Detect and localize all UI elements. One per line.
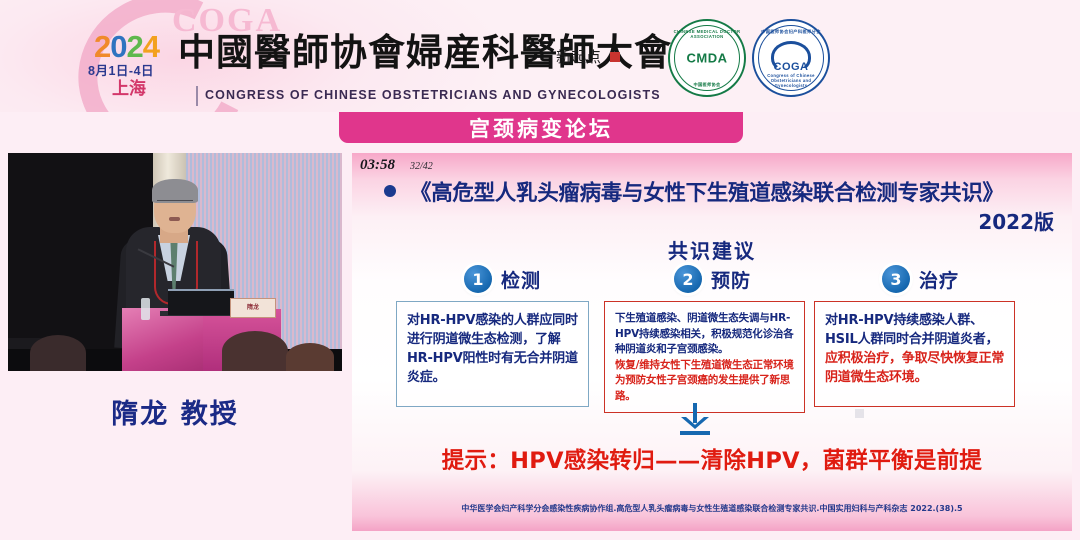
cmda-arc-top: CHINESE MEDICAL DOCTOR ASSOCIATION (670, 29, 744, 39)
laptop-screen (168, 289, 234, 315)
slide-subheading: 共识建议 (352, 235, 1072, 264)
podium-left (122, 308, 212, 371)
step-number-3: 3 (882, 265, 910, 293)
presentation-slide[interactable]: 03:58 32/42 《高危型人乳头瘤病毒与女性下生殖道感染联合检测专家共识》… (352, 153, 1072, 531)
column-label-2: 预防 (711, 266, 751, 293)
conference-chinese-subtitle: 新起点 (556, 46, 601, 67)
step-number-2: 2 (674, 265, 702, 293)
speaker-video[interactable]: 隋龙 (8, 153, 342, 371)
column-label-3: 治疗 (919, 266, 959, 293)
step-number-1: 1 (464, 265, 492, 293)
arrow-stem (693, 403, 697, 423)
column-header-2: 2 预防 (674, 265, 751, 293)
content-box-1: 对HR-HPV感染的人群应同时进行阴道微生态检测，了解HR-HPV阳性时有无合并… (396, 301, 589, 407)
content-box-2-blue-text: 下生殖道感染、阴道微生态失调与HR-HPV持续感染相关，积极规范化诊治各种阴道炎… (615, 311, 795, 358)
cmda-logo: CHINESE MEDICAL DOCTOR ASSOCIATION CMDA … (668, 19, 746, 97)
slide-title: 《高危型人乳头瘤病毒与女性下生殖道感染联合检测专家共识》 (410, 176, 1056, 207)
coga-logo-text: COGA (754, 61, 828, 73)
slide-timer: 03:58 (360, 157, 395, 174)
content-box-3: 对HR-HPV持续感染人群、HSIL人群同时合并阴道炎者， 应积极治疗，争取尽快… (814, 301, 1015, 407)
slide-citation: 中华医学会妇产科学分会感染性疾病协作组.高危型人乳头瘤病毒与女性生殖道感染联合检… (352, 503, 1072, 514)
header-divider (196, 86, 198, 106)
content-box-3-blue-text: 对HR-HPV持续感染人群、HSIL人群同时合并阴道炎者， (825, 311, 1005, 349)
forum-title-label: 宫颈病变论坛 (469, 113, 613, 143)
conference-english-title: CONGRESS OF CHINESE OBSTETRICIANS AND GY… (205, 88, 661, 102)
down-arrow-icon (670, 403, 720, 439)
coga-arc-top: 中国医师协会妇产科医师分会 (754, 29, 828, 35)
red-seal-icon (610, 52, 620, 62)
year-digit-4: 4 (143, 29, 159, 64)
content-box-3-red-text: 应积极治疗，争取尽快恢复正常阴道微生态环境。 (825, 349, 1005, 387)
water-bottle (141, 298, 150, 320)
audience-head-left (30, 335, 86, 371)
column-label-1: 检测 (501, 266, 541, 293)
footer-strip (0, 531, 1080, 540)
column-header-1: 1 检测 (464, 265, 541, 293)
broadcast-screen: COGA 2024 8月1日-4日 上海 中國醫師协會婦産科醫師大會 新起点 C… (0, 0, 1080, 540)
cmda-logo-text: CMDA (670, 51, 744, 66)
coga-arc-bottom: Congress of Chinese Obstetricians and Gy… (754, 73, 828, 88)
slide-counter: 32/42 (410, 161, 433, 172)
column-header-3: 3 治疗 (882, 265, 959, 293)
year-digit-1: 2 (94, 29, 110, 64)
slide-conclusion: 提示：HPV感染转归——清除HPV，菌群平衡是前提 (352, 443, 1072, 475)
year-digit-2: 0 (110, 29, 126, 64)
cmda-arc-bottom: 中国医师协会 (670, 82, 744, 88)
main-content: 隋龙 隋龙 教授 03:58 32/42 《高危型人乳头瘤病毒与女性下生殖道感染… (0, 143, 1080, 540)
conference-header: COGA 2024 8月1日-4日 上海 中國醫師协會婦産科醫師大會 新起点 C… (0, 0, 1080, 112)
desk-nameplate-text: 隋龙 (231, 299, 275, 317)
speaker-caption: 隋龙 教授 (8, 371, 342, 451)
conference-city: 上海 (112, 74, 146, 99)
arrow-base-line (680, 431, 710, 435)
content-box-2-red-text: 恢复/维持女性下生殖道微生态正常环境为预防女性子宫颈癌的发生提供了新思路。 (615, 358, 795, 405)
speaker-glasses-icon (157, 200, 193, 208)
content-box-1-blue-text: 对HR-HPV感染的人群应同时进行阴道微生态检测，了解HR-HPV阳性时有无合并… (407, 311, 579, 387)
bullet-icon (384, 185, 396, 197)
audience-head-right-2 (286, 343, 334, 371)
content-box-2: 下生殖道感染、阴道微生态失调与HR-HPV持续感染相关，积极规范化诊治各种阴道炎… (604, 301, 805, 413)
slide-version-label: 2022版 (978, 206, 1054, 235)
forum-title-pill: 宫颈病变论坛 (339, 112, 743, 143)
slide-artifact (855, 409, 864, 418)
speaker-mouth (169, 217, 180, 221)
audience-head-right (222, 331, 288, 371)
desk-nameplate: 隋龙 (230, 298, 276, 318)
year-digit-3: 2 (127, 29, 143, 64)
coga-logo: 中国医师协会妇产科医师分会 COGA Congress of Chinese O… (752, 19, 830, 97)
